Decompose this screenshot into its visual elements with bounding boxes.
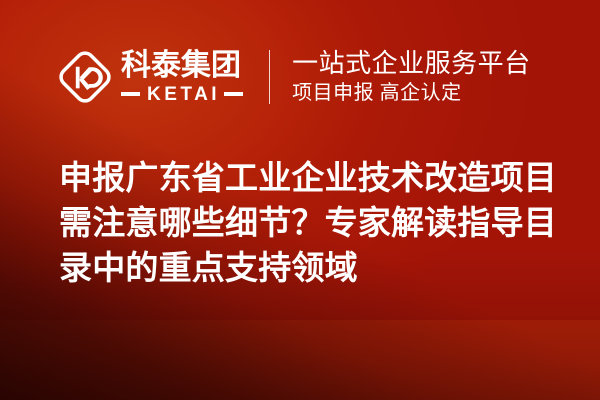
tagline-primary: 一站式企业服务平台: [292, 49, 531, 78]
headline-block: 申报广东省工业企业技术改造项目 需注意哪些细节？专家解读指导目 录中的重点支持领…: [59, 155, 559, 290]
header-divider: [269, 50, 270, 104]
headline-line-3: 录中的重点支持领域: [59, 245, 559, 290]
headline-line-1: 申报广东省工业企业技术改造项目: [59, 155, 559, 200]
brand-name-cn: 科泰集团: [121, 50, 243, 81]
ketai-logo-icon: [58, 50, 112, 104]
brand-name-en-row: KETAI: [121, 85, 243, 104]
brand-rule-left: [121, 92, 140, 96]
brand-lockup[interactable]: 科泰集团 KETAI: [58, 50, 243, 104]
headline-line-2: 需注意哪些细节？专家解读指导目: [59, 200, 559, 245]
tagline-secondary: 项目申报 高企认定: [292, 81, 531, 105]
brand-text: 科泰集团 KETAI: [121, 50, 243, 103]
tagline-block: 一站式企业服务平台 项目申报 高企认定: [292, 49, 531, 104]
banner-header: 科泰集团 KETAI 一站式企业服务平台 项目申报 高企认定: [58, 44, 531, 110]
brand-rule-right: [224, 92, 243, 96]
brand-name-en: KETAI: [147, 85, 220, 104]
promo-banner: 科泰集团 KETAI 一站式企业服务平台 项目申报 高企认定 申报广东省工业企业…: [0, 0, 600, 400]
